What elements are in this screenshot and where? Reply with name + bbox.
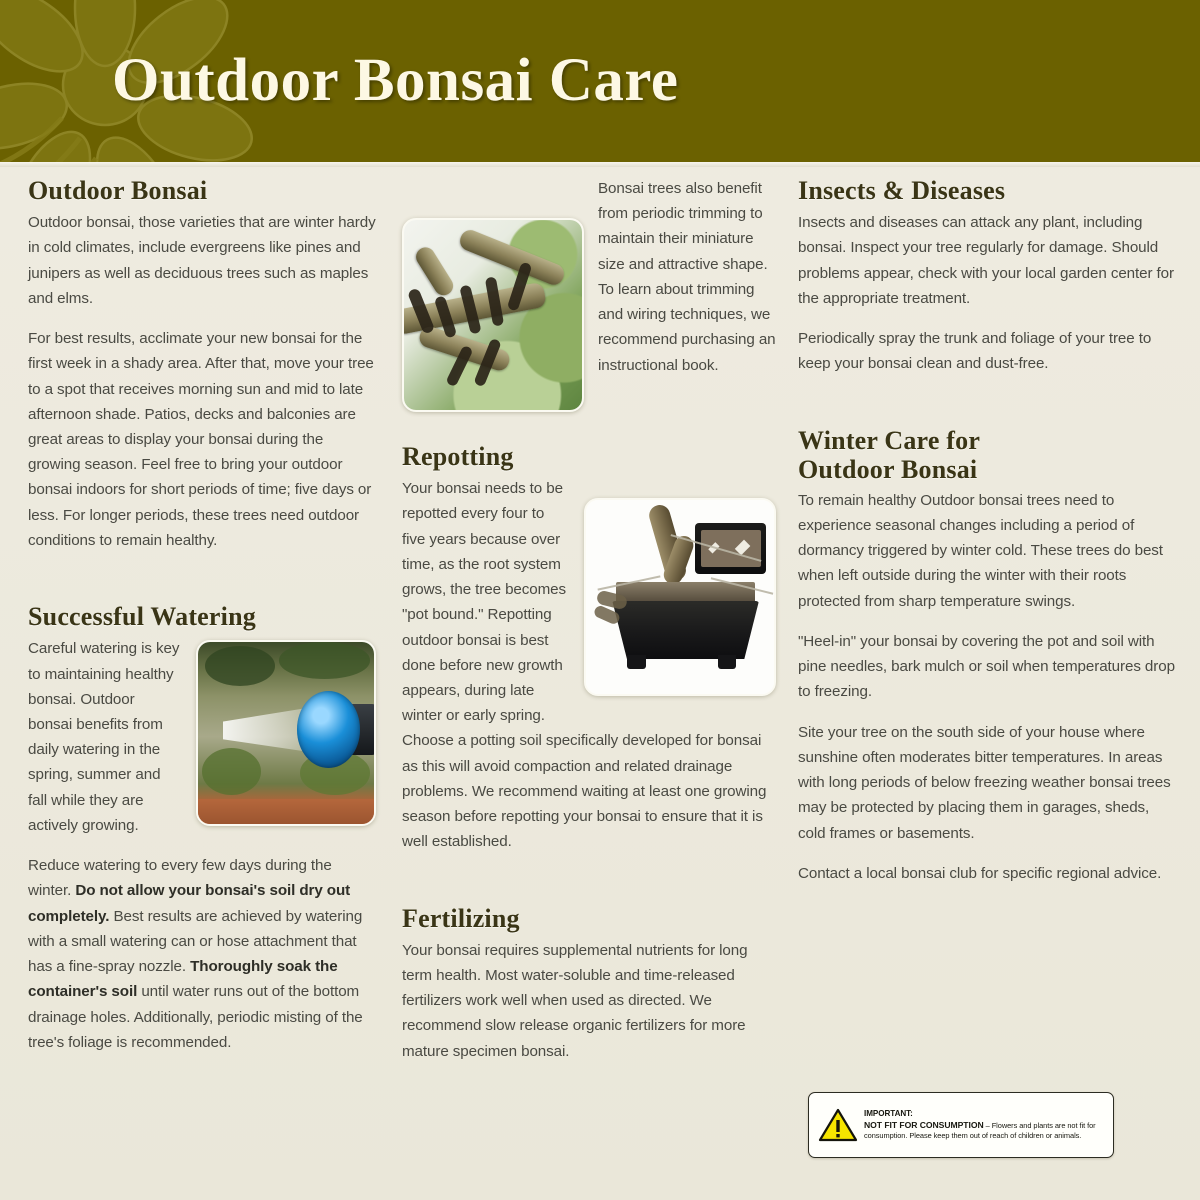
wiring-photo-art [404, 220, 582, 410]
paragraph-insects-2: Periodically spray the trunk and foliage… [798, 326, 1178, 376]
image-branch-wiring [402, 218, 584, 412]
paragraph-outdoor-bonsai-2: For best results, acclimate your new bon… [28, 326, 376, 553]
content-columns: Outdoor Bonsai Outdoor bonsai, those var… [0, 176, 1200, 1200]
poster-page: Outdoor Bonsai Care Outdoor Bonsai Outdo… [0, 0, 1200, 1200]
warning-line2-bold: NOT FIT FOR CONSUMPTION [864, 1120, 984, 1130]
header-divider [0, 162, 1200, 167]
warning-triangle-icon [818, 1107, 858, 1143]
heading-repotting: Repotting [402, 442, 776, 471]
column-right: Insects & Diseases Insects and diseases … [798, 176, 1178, 1200]
paragraph-winter-1: To remain healthy Outdoor bonsai trees n… [798, 488, 1178, 614]
paragraph-insects-1: Insects and diseases can attack any plan… [798, 210, 1178, 311]
image-watering-bonsai [196, 640, 376, 826]
heading-winter-care-line1: Winter Care for [798, 426, 980, 455]
paragraph-winter-4: Contact a local bonsai club for specific… [798, 861, 1178, 886]
warning-box: IMPORTANT: NOT FIT FOR CONSUMPTION – Flo… [808, 1092, 1114, 1158]
column-left: Outdoor Bonsai Outdoor bonsai, those var… [28, 176, 402, 1200]
heading-insects-diseases: Insects & Diseases [798, 176, 1178, 205]
section-spacer [402, 870, 776, 904]
heading-fertilizing: Fertilizing [402, 904, 776, 933]
heading-winter-care-line2: Outdoor Bonsai [798, 455, 977, 484]
watering-photo-art [198, 642, 374, 824]
paragraph-winter-3: Site your tree on the south side of your… [798, 720, 1178, 846]
heading-winter-care: Winter Care forOutdoor Bonsai [798, 426, 1178, 484]
page-title: Outdoor Bonsai Care [112, 46, 678, 116]
paragraph-outdoor-bonsai-1: Outdoor bonsai, those varieties that are… [28, 210, 376, 311]
section-spacer [28, 568, 376, 602]
column-middle: Bonsai trees also benefit from periodic … [402, 176, 798, 1200]
paragraph-watering-2: Reduce watering to every few days during… [28, 853, 376, 1055]
repot-photo-art [586, 500, 774, 694]
page-header: Outdoor Bonsai Care [0, 0, 1200, 162]
image-repotting [584, 498, 776, 696]
heading-successful-watering: Successful Watering [28, 602, 376, 631]
terracotta-pot-rim [198, 799, 374, 824]
paragraph-fertilizing: Your bonsai requires supplemental nutrie… [402, 938, 776, 1064]
heading-outdoor-bonsai: Outdoor Bonsai [28, 176, 376, 205]
warning-line1: IMPORTANT: [864, 1109, 1106, 1120]
paragraph-winter-2: "Heel-in" your bonsai by covering the po… [798, 629, 1178, 705]
warning-text: IMPORTANT: NOT FIT FOR CONSUMPTION – Flo… [864, 1109, 1106, 1141]
section-spacer [798, 392, 1178, 426]
section-spacer [402, 420, 776, 442]
